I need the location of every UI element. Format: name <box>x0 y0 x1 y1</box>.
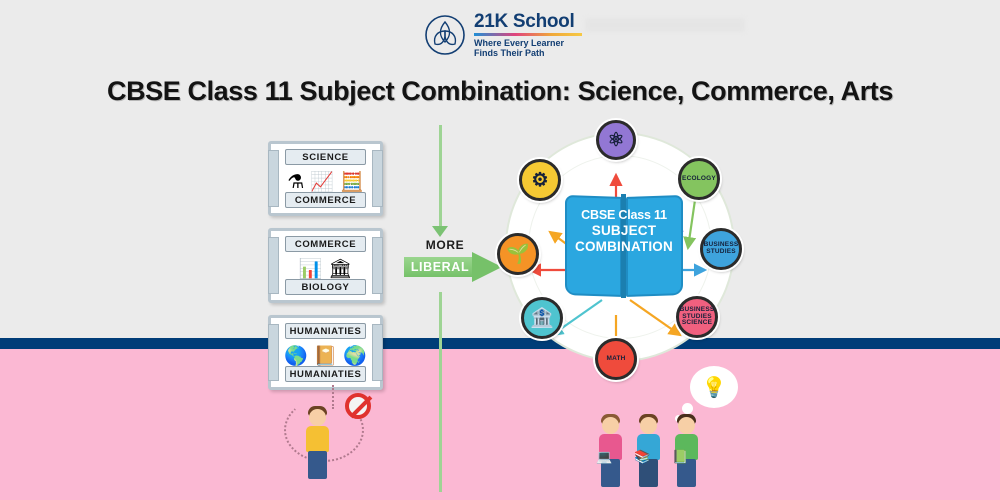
subject-card-commerce[interactable]: COMMERCE 📊 🏛 BIOLOGY <box>268 228 383 303</box>
card-top-label: HUMANIATIES <box>285 323 366 339</box>
head <box>602 417 619 434</box>
subject-card-science[interactable]: SCIENCE ⚗ 📈 🧮 COMMERCE <box>268 141 383 216</box>
legs <box>308 451 327 479</box>
head <box>678 417 695 434</box>
math-label: MATH <box>604 356 627 363</box>
card-bottom-label: BIOLOGY <box>285 279 366 295</box>
node-ecology[interactable]: ECOLOGY <box>678 158 720 200</box>
liberal-label: LIBERAL <box>404 257 476 277</box>
node-gear[interactable]: ⚙ <box>519 159 561 201</box>
student-with-books: 📚 <box>631 413 665 495</box>
line-chart-icon: 📈 <box>310 173 334 192</box>
globe-icon: 🌎 <box>284 347 308 366</box>
bank-building-icon: 🏛 <box>328 260 352 279</box>
card-bottom-label: COMMERCE <box>285 192 366 208</box>
globe-icon: 🌍 <box>343 347 367 366</box>
book-icon: 📔 <box>314 347 338 366</box>
atom-icon: ⚛ <box>607 131 624 150</box>
infographic-canvas: 21K School Where Every Learner Finds The… <box>0 0 1000 500</box>
calculator-icon: 🧮 <box>340 173 364 192</box>
sprout-icon: 🌱 <box>506 245 530 264</box>
center-line-1: CBSE Class 11 <box>565 208 683 223</box>
student-with-laptop: 💻 <box>593 413 627 495</box>
logo-title: 21K School <box>474 12 582 31</box>
business-studies-label: BUSINESS STUDIES <box>702 242 741 256</box>
bank-icon: 🏦 <box>530 309 554 328</box>
bar-chart-icon: 📊 <box>299 260 323 279</box>
card-top-label: SCIENCE <box>285 149 366 165</box>
gear-icon: ⚙ <box>531 171 548 190</box>
shirt <box>306 426 329 452</box>
head <box>309 409 326 426</box>
folder-icon: 📗 <box>672 449 700 465</box>
no-entry-icon <box>345 393 371 419</box>
subject-card-humanities[interactable]: HUMANIATIES 🌎 📔 🌍 HUMANIATIES <box>268 315 383 390</box>
liberal-arrow: LIBERAL <box>404 252 502 282</box>
green-arrow-down-icon <box>432 226 448 237</box>
lotus-circle-icon <box>424 14 466 56</box>
node-plant[interactable]: 🌱 <box>497 233 539 275</box>
books-icon: 📚 <box>634 449 662 465</box>
green-connector-line <box>439 125 442 230</box>
node-business-studies-science[interactable]: BUSINESS STUDIES SCIENCE <box>676 296 718 338</box>
brand-logo[interactable]: 21K School Where Every Learner Finds The… <box>424 10 594 60</box>
logo-tagline-line2: Finds Their Path <box>474 48 545 58</box>
lightbulb-check-icon: 💡 <box>702 375 727 400</box>
center-line-3: COMBINATION <box>565 239 683 255</box>
logo-tagline: Where Every Learner Finds Their Path <box>474 38 582 59</box>
center-title-block: CBSE Class 11 SUBJECT COMBINATION <box>565 208 683 255</box>
node-business-studies[interactable]: BUSINESS STUDIES <box>700 228 742 270</box>
laptop-icon: 💻 <box>596 449 624 465</box>
node-atom[interactable]: ⚛ <box>596 120 636 160</box>
students-group: 💻 📚 📗 <box>588 400 708 495</box>
more-label: MORE <box>410 238 480 252</box>
green-connector-line-lower <box>439 292 442 492</box>
center-line-2: SUBJECT <box>565 223 683 239</box>
logo-text-block: 21K School Where Every Learner Finds The… <box>474 12 582 59</box>
node-bank[interactable]: 🏦 <box>521 297 563 339</box>
logo-gradient-rule <box>474 33 582 36</box>
node-math[interactable]: MATH <box>595 338 637 380</box>
boy-standing-icon <box>300 405 340 485</box>
page-title: CBSE Class 11 Subject Combination: Scien… <box>0 76 1000 107</box>
flask-icon: ⚗ <box>287 173 304 192</box>
head <box>640 417 657 434</box>
card-top-label: COMMERCE <box>285 236 366 252</box>
student-with-folder: 📗 <box>669 413 703 495</box>
business-studies-science-label: BUSINESS STUDIES SCIENCE <box>678 307 717 327</box>
ecology-label: ECOLOGY <box>680 176 718 183</box>
card-bottom-label: HUMANIATIES <box>285 366 366 382</box>
watermark-smudge <box>585 18 745 32</box>
logo-tagline-line1: Where Every Learner <box>474 38 564 48</box>
